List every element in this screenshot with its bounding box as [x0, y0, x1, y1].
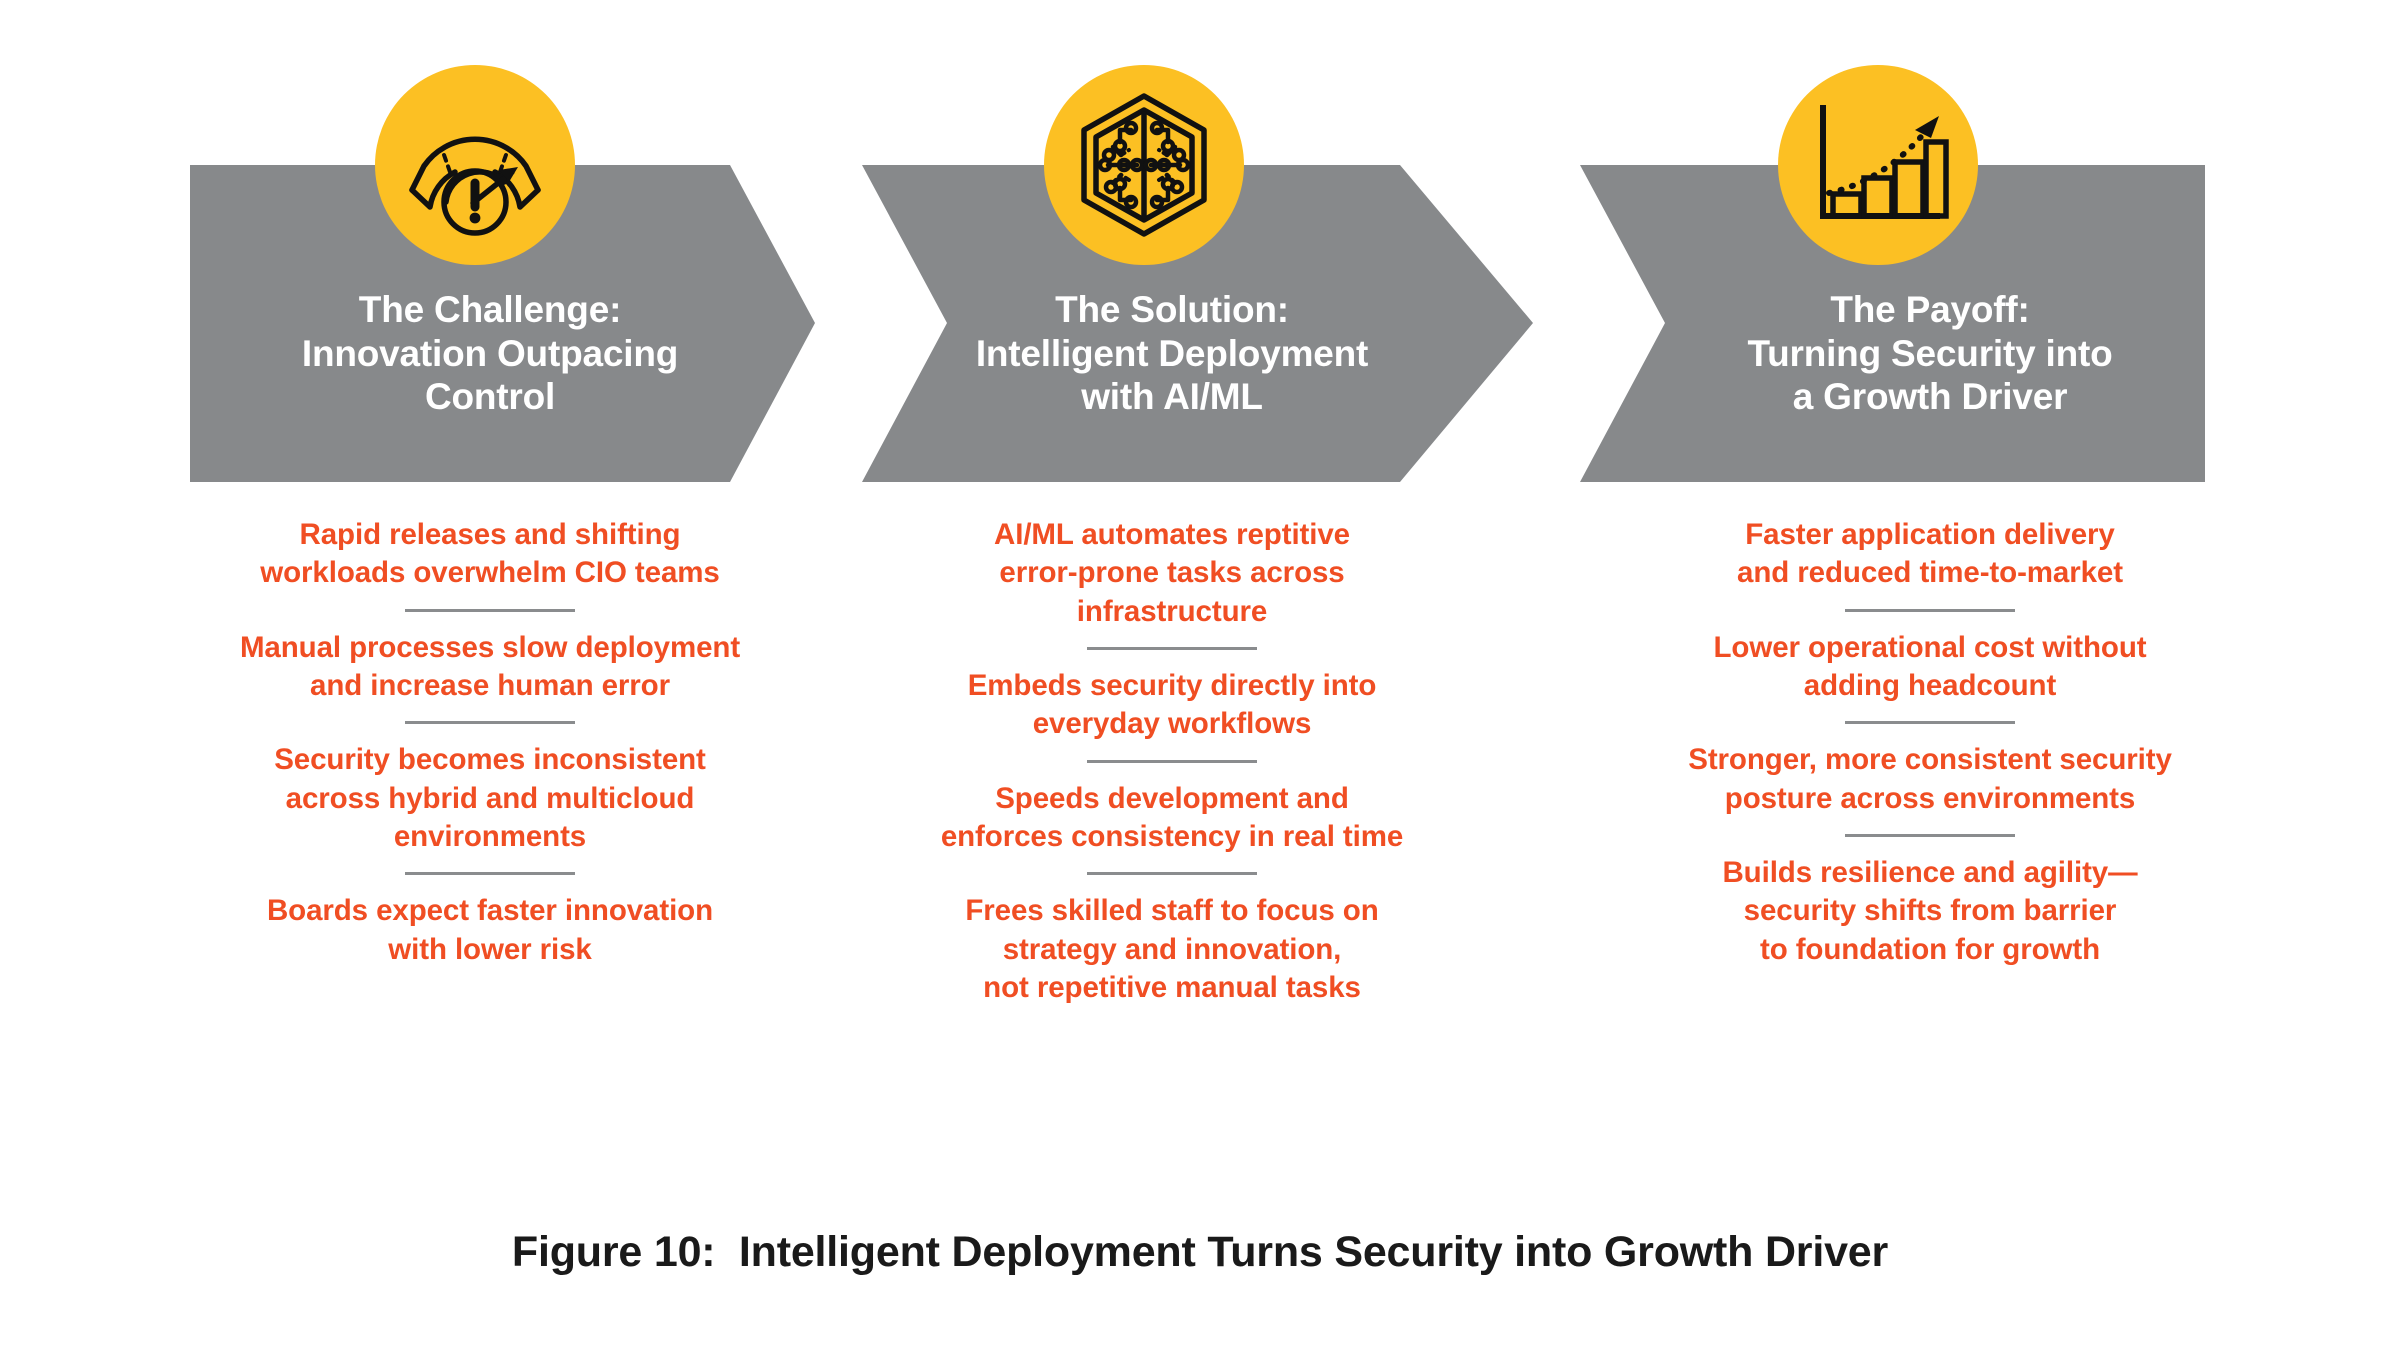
list-item: Security becomes inconsistentacross hybr…: [190, 741, 790, 856]
column-payoff: The Payoff: Turning Security into a Grow…: [1580, 0, 2205, 1350]
column-solution: The Solution: Intelligent Deployment wit…: [862, 0, 1502, 1350]
bullet-divider: [1845, 834, 2015, 837]
bullet-divider: [405, 609, 575, 612]
title-line: The Payoff:: [1630, 288, 2230, 332]
bullet-list-solution: AI/ML automates reptitiveerror-prone tas…: [862, 516, 1482, 1007]
list-item: Speeds development andenforces consisten…: [862, 780, 1482, 857]
bullet-divider: [405, 721, 575, 724]
bullet-divider: [1087, 872, 1257, 875]
list-item: Manual processes slow deploymentand incr…: [190, 629, 790, 706]
bullet-list-challenge: Rapid releases and shiftingworkloads ove…: [190, 516, 790, 969]
list-item: AI/ML automates reptitiveerror-prone tas…: [862, 516, 1482, 631]
title-line: Control: [190, 375, 790, 419]
bullet-divider: [1087, 760, 1257, 763]
badge-payoff: [1778, 65, 1978, 265]
list-item: Frees skilled staff to focus onstrategy …: [862, 892, 1482, 1007]
title-line: a Growth Driver: [1630, 375, 2230, 419]
list-item: Builds resilience and agility—security s…: [1630, 854, 2230, 969]
figure-caption: Figure 10: Intelligent Deployment Turns …: [0, 1228, 2400, 1277]
ai-hexagon-circuit-icon: [1069, 90, 1219, 240]
growth-bar-chart-icon: [1803, 90, 1953, 240]
title-line: The Solution:: [862, 288, 1482, 332]
band-title-solution: The Solution: Intelligent Deployment wit…: [862, 288, 1482, 419]
badge-challenge: [375, 65, 575, 265]
badge-solution: [1044, 65, 1244, 265]
title-line: with AI/ML: [862, 375, 1482, 419]
list-item: Faster application deliveryand reduced t…: [1630, 516, 2230, 593]
bullet-divider: [1087, 647, 1257, 650]
bullet-divider: [405, 872, 575, 875]
title-line: The Challenge:: [190, 288, 790, 332]
list-item: Boards expect faster innovationwith lowe…: [190, 892, 790, 969]
bullet-list-payoff: Faster application deliveryand reduced t…: [1630, 516, 2230, 969]
bullet-divider: [1845, 721, 2015, 724]
figure-container: The Challenge: Innovation Outpacing Cont…: [0, 0, 2400, 1350]
gauge-warning-icon: [400, 90, 550, 240]
bullet-divider: [1845, 609, 2015, 612]
band-title-payoff: The Payoff: Turning Security into a Grow…: [1630, 288, 2230, 419]
column-challenge: The Challenge: Innovation Outpacing Cont…: [190, 0, 830, 1350]
title-line: Intelligent Deployment: [862, 332, 1482, 376]
title-line: Turning Security into: [1630, 332, 2230, 376]
list-item: Lower operational cost withoutadding hea…: [1630, 629, 2230, 706]
list-item: Embeds security directly intoeveryday wo…: [862, 667, 1482, 744]
band-title-challenge: The Challenge: Innovation Outpacing Cont…: [190, 288, 790, 419]
title-line: Innovation Outpacing: [190, 332, 790, 376]
list-item: Stronger, more consistent securitypostur…: [1630, 741, 2230, 818]
list-item: Rapid releases and shiftingworkloads ove…: [190, 516, 790, 593]
